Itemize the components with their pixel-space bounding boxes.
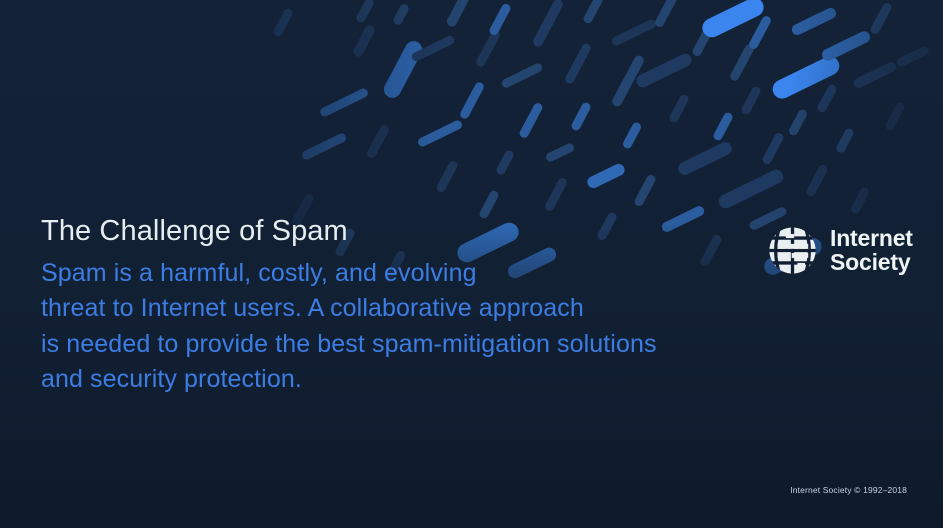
pattern-dash bbox=[633, 173, 657, 207]
pattern-dash bbox=[495, 149, 515, 176]
page-subtitle-line-3: is needed to provide the best spam-mitig… bbox=[41, 327, 741, 363]
pattern-dash bbox=[416, 119, 463, 148]
pattern-dash bbox=[366, 123, 391, 159]
pattern-dash bbox=[849, 186, 870, 215]
pattern-dash bbox=[621, 121, 642, 150]
page-title: The Challenge of Spam bbox=[41, 216, 741, 248]
pattern-dash bbox=[585, 162, 626, 190]
pattern-dash bbox=[835, 127, 855, 154]
pattern-dash bbox=[896, 45, 931, 68]
page-subtitle-line-2: threat to Internet users. A collaborativ… bbox=[41, 291, 741, 327]
pattern-dash bbox=[319, 87, 370, 118]
copyright-note: Internet Society © 1992–2018 bbox=[790, 485, 907, 495]
pattern-dash bbox=[381, 38, 425, 101]
page-subtitle: Spam is a harmful, costly, and evolvingt… bbox=[41, 256, 741, 398]
pattern-dash bbox=[300, 132, 347, 161]
pattern-dash bbox=[459, 81, 486, 121]
pattern-dash bbox=[488, 2, 512, 36]
logo-wordmark-line2: Society bbox=[830, 251, 913, 275]
pattern-dash bbox=[392, 3, 410, 27]
pattern-dash bbox=[435, 159, 459, 193]
pattern-dash bbox=[654, 0, 679, 29]
pattern-dash bbox=[582, 0, 604, 25]
pattern-dash bbox=[545, 142, 576, 163]
pattern-dash bbox=[352, 24, 377, 59]
copy-block: The Challenge of Spam Spam is a harmful,… bbox=[41, 216, 741, 398]
pattern-dash bbox=[668, 93, 690, 124]
pattern-dash bbox=[869, 1, 893, 35]
pattern-dash bbox=[748, 14, 773, 50]
pattern-dash bbox=[676, 140, 734, 177]
internet-society-logo: Internet Society bbox=[766, 224, 913, 277]
pattern-dash bbox=[570, 101, 592, 132]
pattern-dash bbox=[729, 43, 756, 83]
pattern-dash bbox=[500, 62, 543, 89]
pattern-dash bbox=[805, 163, 829, 197]
pattern-dash bbox=[518, 102, 544, 140]
pattern-dash bbox=[816, 83, 838, 114]
pattern-dash bbox=[716, 167, 785, 210]
pattern-dash bbox=[761, 131, 785, 165]
globe-icon bbox=[766, 224, 819, 277]
page-subtitle-line-1: Spam is a harmful, costly, and evolving bbox=[41, 256, 741, 292]
logo-wordmark: Internet Society bbox=[830, 227, 913, 275]
pattern-dash bbox=[544, 176, 569, 212]
pattern-dash bbox=[475, 29, 502, 69]
logo-wordmark-line1: Internet bbox=[830, 227, 913, 251]
pattern-dash bbox=[787, 108, 808, 137]
pattern-dash bbox=[610, 18, 657, 47]
pattern-dash bbox=[564, 42, 593, 85]
slide: The Challenge of Spam Spam is a harmful,… bbox=[0, 0, 943, 528]
pattern-dash bbox=[355, 0, 375, 24]
pattern-dash bbox=[884, 101, 906, 132]
pattern-dash bbox=[531, 0, 564, 48]
pattern-dash bbox=[445, 0, 471, 28]
page-subtitle-line-4: and security protection. bbox=[41, 362, 741, 398]
pattern-dash bbox=[740, 85, 762, 116]
pattern-dash bbox=[712, 111, 734, 142]
pattern-dash bbox=[634, 52, 694, 90]
pattern-dash bbox=[272, 7, 294, 38]
pattern-dash bbox=[820, 29, 872, 63]
pattern-dash bbox=[790, 6, 838, 37]
pattern-dash bbox=[852, 60, 898, 89]
